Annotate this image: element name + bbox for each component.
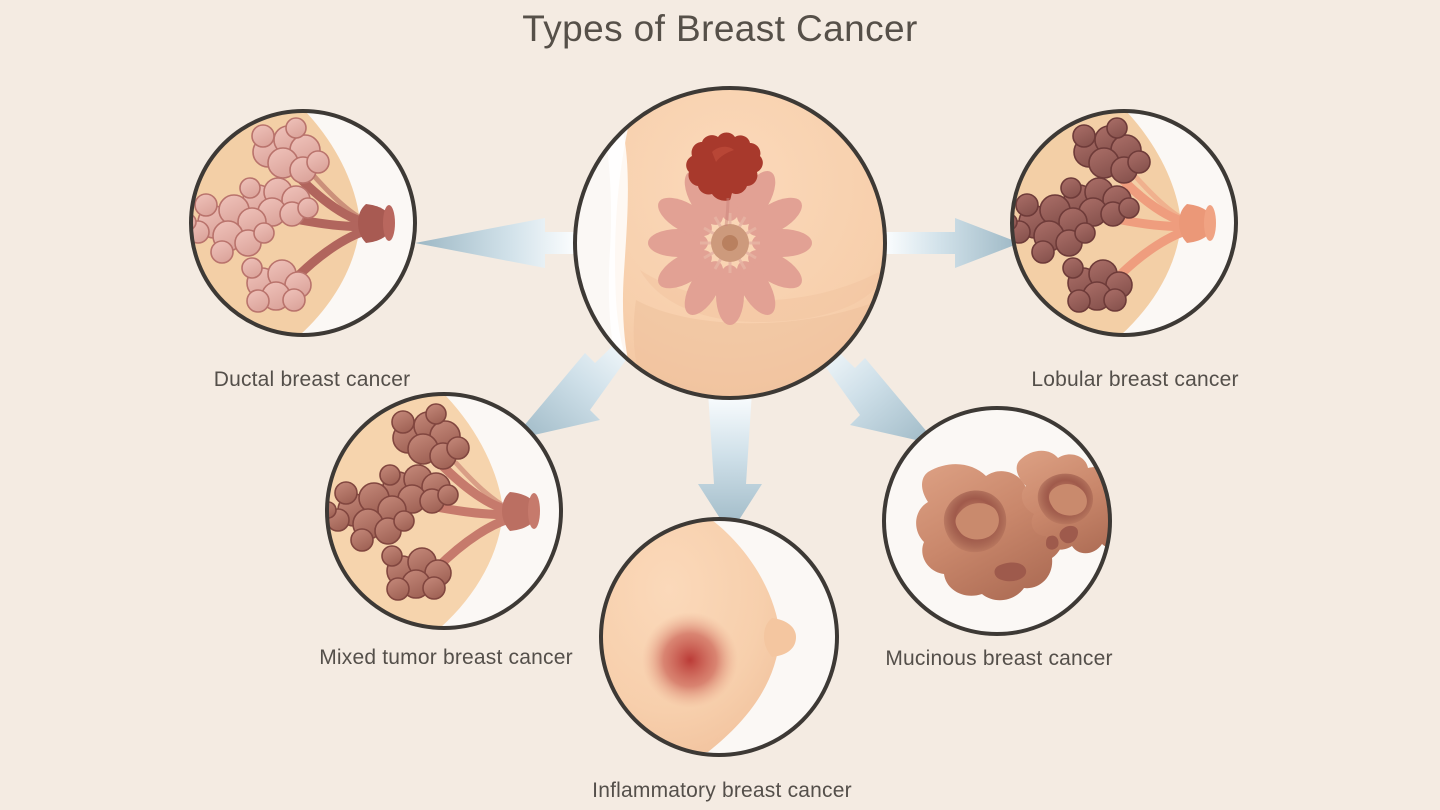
inflamed-patch: [642, 612, 738, 708]
page-title: Types of Breast Cancer: [522, 8, 917, 50]
node-inflammatory[interactable]: [601, 519, 837, 756]
infographic-canvas: Types of Breast Cancer Ductal breast can…: [0, 0, 1440, 810]
node-ductal[interactable]: [180, 111, 415, 335]
node-lobular[interactable]: [1001, 111, 1236, 335]
label-inflammatory: Inflammatory breast cancer: [592, 779, 852, 803]
node-mucinous[interactable]: [884, 408, 1142, 634]
node-central[interactable]: [575, 88, 920, 404]
arrow-to-lobular: [885, 218, 1020, 268]
label-mucinous: Mucinous breast cancer: [885, 647, 1112, 671]
label-ductal: Ductal breast cancer: [214, 368, 411, 392]
node-mixed[interactable]: [320, 394, 561, 628]
arrow-to-ductal: [415, 218, 575, 268]
arrow-to-inflammatory: [698, 392, 762, 534]
label-lobular: Lobular breast cancer: [1031, 368, 1238, 392]
label-mixed: Mixed tumor breast cancer: [319, 646, 573, 670]
diagram-svg: [0, 0, 1440, 810]
